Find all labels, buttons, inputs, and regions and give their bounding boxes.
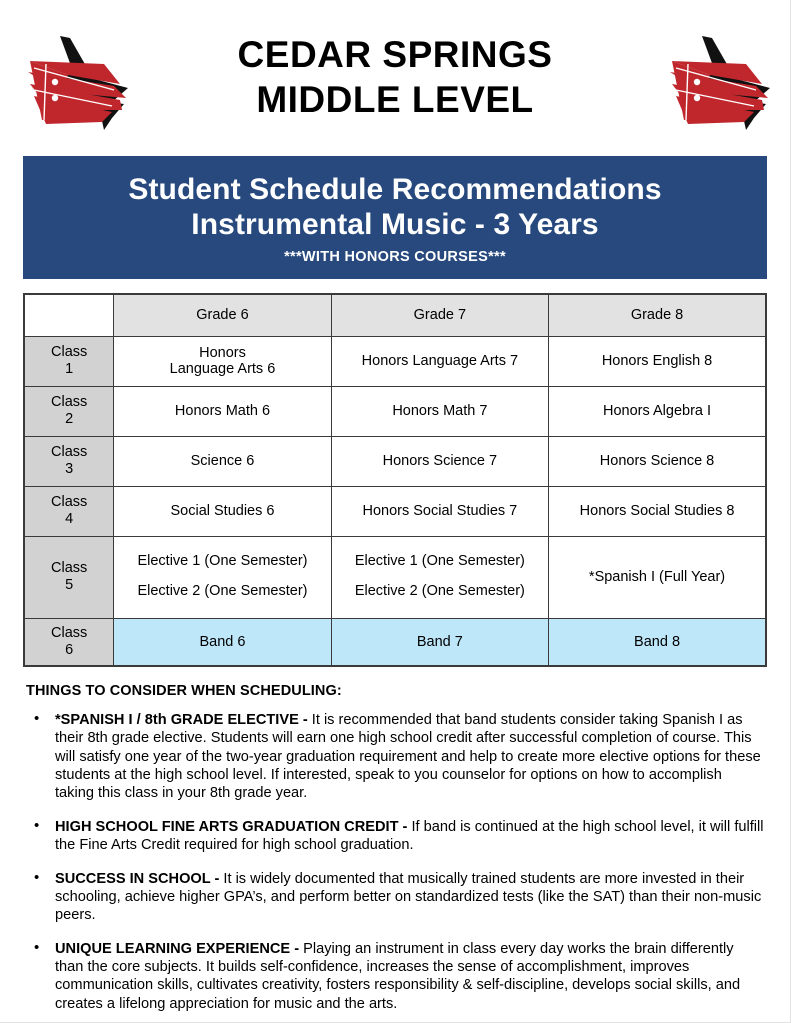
cell-class6-grade8: Band 8 — [549, 618, 766, 666]
cell-class3-grade6: Science 6 — [114, 436, 331, 486]
row-label-class-1: Class 1 — [24, 336, 114, 386]
elective-line-2: Elective 2 (One Semester) — [336, 577, 544, 607]
row-label-class-4: Class 4 — [24, 486, 114, 536]
cell-class5-grade7: Elective 1 (One Semester) Elective 2 (On… — [331, 536, 548, 618]
banner: Student Schedule Recommendations Instrum… — [23, 156, 767, 279]
column-header-grade-8: Grade 8 — [549, 294, 766, 336]
table-row: Class 1 Honors Language Arts 6 Honors La… — [24, 336, 766, 386]
table-row: Class 3 Science 6 Honors Science 7 Honor… — [24, 436, 766, 486]
schedule-table-container: Grade 6 Grade 7 Grade 8 Class 1 Honors L… — [23, 293, 767, 667]
note-title: SUCCESS IN SCHOOL - — [55, 871, 223, 887]
note-title: UNIQUE LEARNING EXPERIENCE - — [55, 941, 303, 957]
cell-class2-grade6: Honors Math 6 — [114, 386, 331, 436]
table-row: Class 5 Elective 1 (One Semester) Electi… — [24, 536, 766, 618]
cell-class3-grade7: Honors Science 7 — [331, 436, 548, 486]
school-title-line1: CEDAR SPRINGS — [238, 34, 553, 75]
row-label-number: 2 — [29, 411, 109, 428]
red-hawk-logo-right — [650, 28, 782, 140]
cell-class1-grade6: Honors Language Arts 6 — [114, 336, 331, 386]
notes-section: THINGS TO CONSIDER WHEN SCHEDULING: *SPA… — [26, 683, 764, 1013]
row-label-class-5: Class 5 — [24, 536, 114, 618]
notes-list: *SPANISH I / 8th GRADE ELECTIVE - It is … — [26, 711, 764, 1013]
cell-class1-grade8: Honors English 8 — [549, 336, 766, 386]
banner-subtitle: ***WITH HONORS COURSES*** — [33, 249, 757, 265]
row-label-class-2: Class 2 — [24, 386, 114, 436]
row-label-word: Class — [51, 625, 87, 641]
table-corner-cell — [24, 294, 114, 336]
cell-line-2: Language Arts 6 — [170, 361, 276, 377]
row-label-number: 5 — [29, 577, 109, 594]
row-label-word: Class — [51, 560, 87, 576]
table-row: Class 6 Band 6 Band 7 Band 8 — [24, 618, 766, 666]
notes-heading: THINGS TO CONSIDER WHEN SCHEDULING: — [26, 683, 764, 699]
row-label-class-3: Class 3 — [24, 436, 114, 486]
row-label-number: 1 — [29, 361, 109, 378]
table-row: Class 4 Social Studies 6 Honors Social S… — [24, 486, 766, 536]
cell-class4-grade7: Honors Social Studies 7 — [331, 486, 548, 536]
note-title: *SPANISH I / 8th GRADE ELECTIVE - — [55, 712, 312, 728]
row-label-class-6: Class 6 — [24, 618, 114, 666]
banner-line-1: Student Schedule Recommendations — [33, 172, 757, 207]
cell-class3-grade8: Honors Science 8 — [549, 436, 766, 486]
row-label-number: 4 — [29, 511, 109, 528]
table-row: Class 2 Honors Math 6 Honors Math 7 Hono… — [24, 386, 766, 436]
cell-class4-grade8: Honors Social Studies 8 — [549, 486, 766, 536]
note-title: HIGH SCHOOL FINE ARTS GRADUATION CREDIT … — [55, 819, 411, 835]
cell-class5-grade8: *Spanish I (Full Year) — [549, 536, 766, 618]
row-label-number: 6 — [29, 642, 109, 659]
row-label-word: Class — [51, 394, 87, 410]
row-label-word: Class — [51, 494, 87, 510]
row-label-number: 3 — [29, 461, 109, 478]
cell-class2-grade7: Honors Math 7 — [331, 386, 548, 436]
page-title: CEDAR SPRINGS MIDDLE LEVEL — [238, 28, 553, 122]
cell-class2-grade8: Honors Algebra I — [549, 386, 766, 436]
table-header-row: Grade 6 Grade 7 Grade 8 — [24, 294, 766, 336]
row-label-word: Class — [51, 344, 87, 360]
cell-line-1: Honors — [199, 345, 246, 361]
list-item: *SPANISH I / 8th GRADE ELECTIVE - It is … — [26, 711, 764, 803]
red-hawk-logo-left — [8, 28, 140, 140]
row-label-word: Class — [51, 444, 87, 460]
elective-line-1: Elective 1 (One Semester) — [118, 547, 326, 577]
list-item: UNIQUE LEARNING EXPERIENCE - Playing an … — [26, 940, 764, 1014]
document-page: CEDAR SPRINGS MIDDLE LEVEL Studen — [0, 0, 791, 1023]
document-header: CEDAR SPRINGS MIDDLE LEVEL — [0, 0, 790, 150]
school-title-line2: MIDDLE LEVEL — [238, 77, 553, 122]
cell-class4-grade6: Social Studies 6 — [114, 486, 331, 536]
elective-line-2: Elective 2 (One Semester) — [118, 577, 326, 607]
cell-class6-grade6: Band 6 — [114, 618, 331, 666]
list-item: HIGH SCHOOL FINE ARTS GRADUATION CREDIT … — [26, 818, 764, 855]
cell-class6-grade7: Band 7 — [331, 618, 548, 666]
elective-line-1: Elective 1 (One Semester) — [336, 547, 544, 577]
banner-line-2: Instrumental Music - 3 Years — [33, 207, 757, 242]
column-header-grade-7: Grade 7 — [331, 294, 548, 336]
list-item: SUCCESS IN SCHOOL - It is widely documen… — [26, 870, 764, 925]
schedule-table: Grade 6 Grade 7 Grade 8 Class 1 Honors L… — [23, 293, 767, 667]
cell-class5-grade6: Elective 1 (One Semester) Elective 2 (On… — [114, 536, 331, 618]
column-header-grade-6: Grade 6 — [114, 294, 331, 336]
cell-class1-grade7: Honors Language Arts 7 — [331, 336, 548, 386]
